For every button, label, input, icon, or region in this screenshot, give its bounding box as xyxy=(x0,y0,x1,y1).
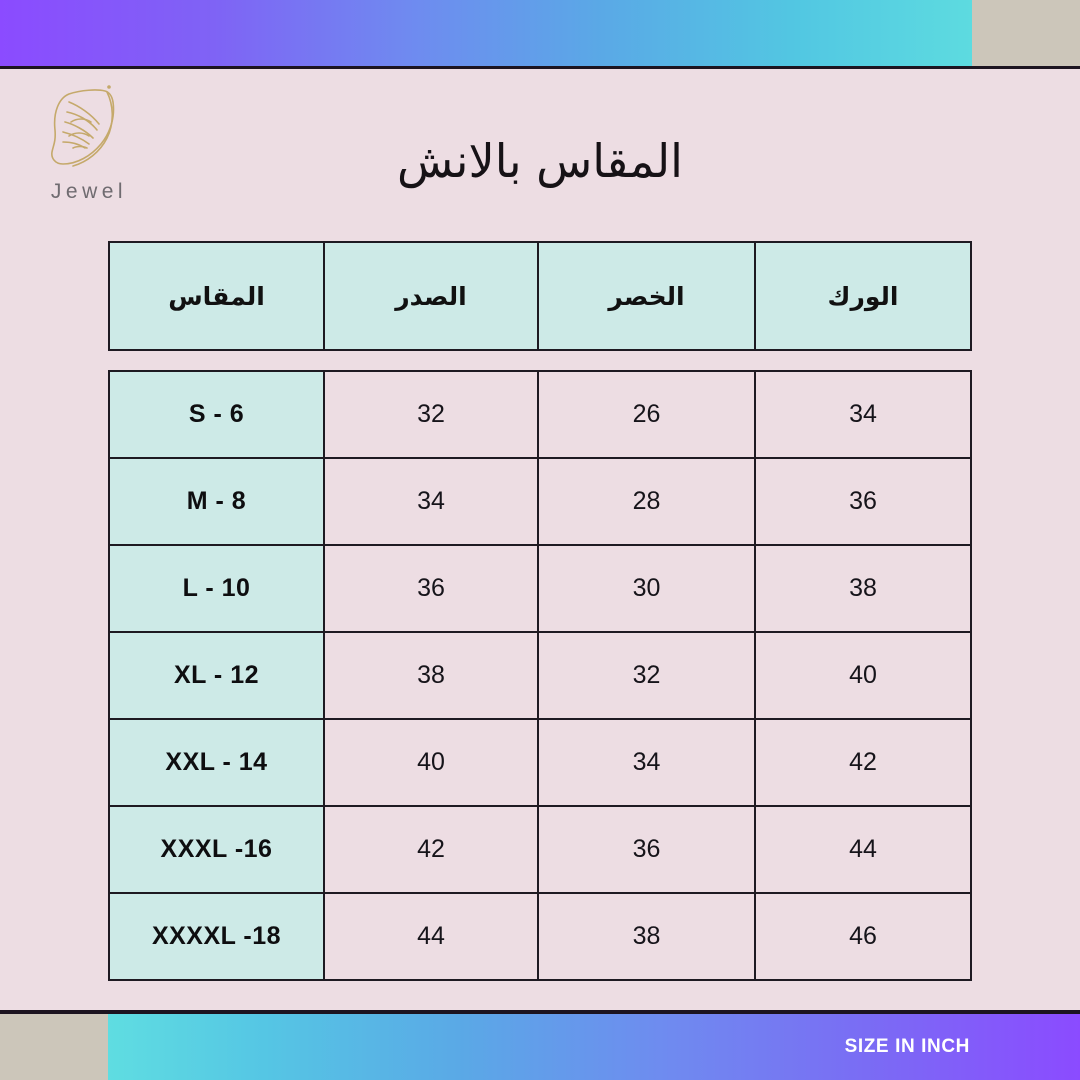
cell-waist: 32 xyxy=(538,632,755,719)
table-header-row: المقاس الصدر الخصر الورك xyxy=(109,242,971,350)
cell-size: M - 8 xyxy=(109,458,324,545)
cell-hip: 42 xyxy=(755,719,971,806)
cell-size: XXXL -16 xyxy=(109,806,324,893)
cell-size: XXL - 14 xyxy=(109,719,324,806)
cell-chest: 40 xyxy=(324,719,538,806)
table-row: L - 10 36 30 38 xyxy=(109,545,971,632)
cell-size: XL - 12 xyxy=(109,632,324,719)
cell-size: S - 6 xyxy=(109,371,324,458)
size-chart-page: Jewel المقاس بالانش المقاس الصدر الخصر ا… xyxy=(0,0,1080,1080)
table-row: XXXL -16 42 36 44 xyxy=(109,806,971,893)
cell-size: L - 10 xyxy=(109,545,324,632)
page-title: المقاس بالانش xyxy=(0,134,1080,188)
cell-waist: 26 xyxy=(538,371,755,458)
cell-hip: 44 xyxy=(755,806,971,893)
table-row: XXL - 14 40 34 42 xyxy=(109,719,971,806)
top-gradient-bar xyxy=(0,0,972,66)
cell-waist: 38 xyxy=(538,893,755,980)
column-header-size: المقاس xyxy=(109,242,324,350)
cell-chest: 32 xyxy=(324,371,538,458)
size-chart-header-table: المقاس الصدر الخصر الورك xyxy=(108,241,972,351)
cell-chest: 42 xyxy=(324,806,538,893)
logo-dot-icon xyxy=(107,85,111,89)
cell-hip: 46 xyxy=(755,893,971,980)
cell-chest: 38 xyxy=(324,632,538,719)
footer-label: SIZE IN INCH xyxy=(845,1036,970,1058)
cell-waist: 30 xyxy=(538,545,755,632)
cell-waist: 28 xyxy=(538,458,755,545)
column-header-hip: الورك xyxy=(755,242,971,350)
cell-waist: 34 xyxy=(538,719,755,806)
cell-chest: 34 xyxy=(324,458,538,545)
bottom-gradient-bar: SIZE IN INCH xyxy=(108,1014,1080,1080)
table-row: M - 8 34 28 36 xyxy=(109,458,971,545)
cell-hip: 34 xyxy=(755,371,971,458)
cell-chest: 36 xyxy=(324,545,538,632)
cell-hip: 36 xyxy=(755,458,971,545)
cell-hip: 38 xyxy=(755,545,971,632)
table-row: XL - 12 38 32 40 xyxy=(109,632,971,719)
cell-size: XXXXL -18 xyxy=(109,893,324,980)
table-row: XXXXL -18 44 38 46 xyxy=(109,893,971,980)
column-header-waist: الخصر xyxy=(538,242,755,350)
table-row: S - 6 32 26 34 xyxy=(109,371,971,458)
size-chart-body-table: S - 6 32 26 34 M - 8 34 28 36 L - 10 36 … xyxy=(108,370,972,981)
cell-chest: 44 xyxy=(324,893,538,980)
column-header-chest: الصدر xyxy=(324,242,538,350)
cell-hip: 40 xyxy=(755,632,971,719)
top-divider-rule xyxy=(0,66,1080,69)
cell-waist: 36 xyxy=(538,806,755,893)
